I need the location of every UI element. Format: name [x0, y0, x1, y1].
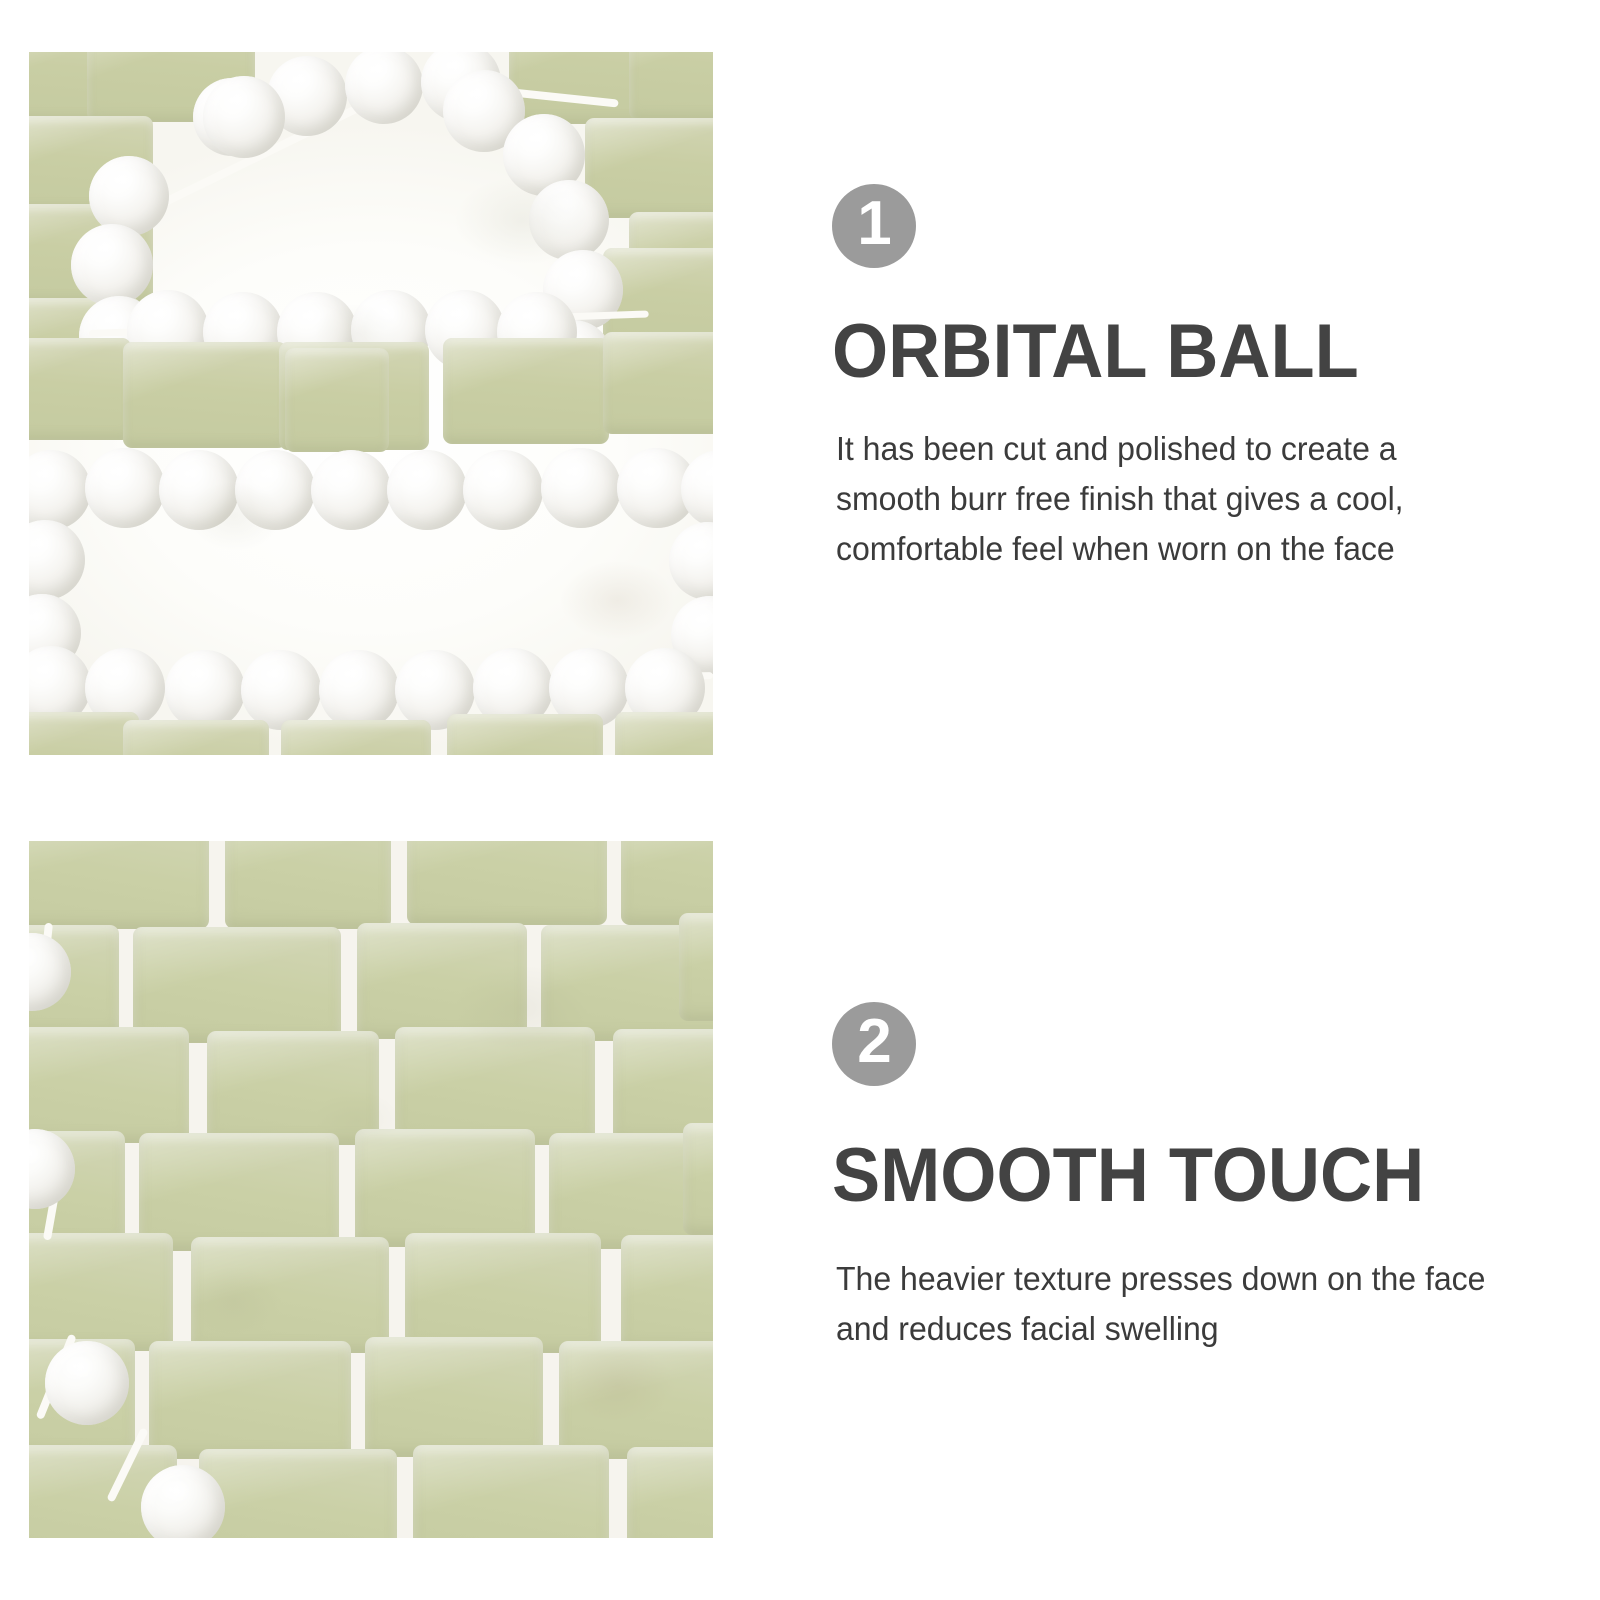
- orbital-bead: [241, 650, 321, 730]
- jade-tile: [199, 1449, 397, 1538]
- orbital-bead: [529, 180, 609, 260]
- feature-block-orbital-ball: 1 ORBITAL BALL It has been cut and polis…: [832, 184, 1532, 574]
- orbital-bead: [71, 224, 153, 306]
- infographic-page: 1 ORBITAL BALL It has been cut and polis…: [0, 0, 1600, 1600]
- jade-tile: [285, 348, 389, 452]
- jade-tile: [357, 923, 527, 1039]
- feature-description: The heavier texture presses down on the …: [836, 1254, 1496, 1354]
- orbital-bead: [45, 1341, 129, 1425]
- feature-description: It has been cut and polished to create a…: [836, 424, 1496, 574]
- orbital-bead: [319, 650, 399, 730]
- jade-tile: [447, 714, 603, 755]
- jade-tile: [123, 720, 269, 755]
- photo-content: [29, 52, 713, 755]
- orbital-bead: [203, 76, 285, 158]
- orbital-bead: [463, 450, 543, 530]
- jade-tile: [615, 712, 713, 755]
- orbital-bead: [541, 448, 621, 528]
- orbital-bead: [159, 450, 239, 530]
- jade-tile: [365, 1337, 543, 1457]
- jade-tile: [29, 338, 131, 440]
- orbital-bead: [235, 450, 315, 530]
- step-number-2-badge: 2: [832, 1002, 916, 1086]
- orbital-bead: [165, 650, 245, 730]
- orbital-ball-photo: [29, 52, 713, 755]
- feature-headline: SMOOTH TOUCH: [832, 1138, 1497, 1214]
- jade-tile: [29, 1027, 189, 1143]
- orbital-bead: [29, 520, 85, 600]
- jade-tile: [355, 1129, 535, 1247]
- jade-tile: [443, 338, 609, 444]
- photo-content: [29, 841, 713, 1538]
- jade-tile: [621, 1235, 713, 1351]
- jade-tile: [627, 1447, 713, 1538]
- orbital-bead: [669, 522, 713, 600]
- orbital-bead: [387, 450, 467, 530]
- jade-tile: [395, 1027, 595, 1145]
- step-number-1-badge: 1: [832, 184, 916, 268]
- jade-tile: [133, 927, 341, 1043]
- orbital-bead: [345, 52, 423, 124]
- feature-headline: ORBITAL BALL: [832, 314, 1497, 390]
- jade-tile: [679, 913, 713, 1021]
- orbital-bead: [85, 448, 165, 528]
- orbital-bead: [29, 450, 91, 530]
- jade-tile: [225, 841, 391, 929]
- jade-tile: [405, 1233, 601, 1353]
- jade-tile: [207, 1031, 379, 1145]
- jade-tile: [603, 332, 713, 434]
- jade-tile: [683, 1123, 713, 1235]
- smooth-touch-photo: [29, 841, 713, 1538]
- jade-tile: [29, 1233, 173, 1351]
- orbital-bead: [89, 156, 169, 236]
- jade-tile: [629, 52, 713, 120]
- jade-tile: [123, 342, 287, 448]
- jade-tile: [407, 841, 607, 925]
- feature-block-smooth-touch: 2 SMOOTH TOUCH The heavier texture press…: [832, 1002, 1532, 1354]
- jade-tile: [413, 1445, 609, 1538]
- jade-tile: [139, 1133, 339, 1251]
- jade-tile: [281, 720, 431, 755]
- jade-tile: [149, 1341, 351, 1459]
- jade-tile: [191, 1237, 389, 1353]
- jade-tile: [29, 841, 209, 929]
- orbital-bead: [311, 450, 391, 530]
- jade-tile: [559, 1341, 713, 1459]
